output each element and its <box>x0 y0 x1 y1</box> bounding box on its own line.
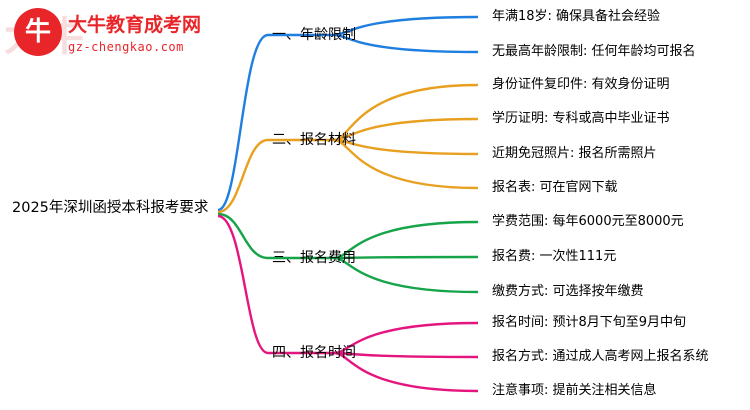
leaf-label-3-2: 报名费: 一次性111元 <box>492 250 616 263</box>
leaf-label-4-2: 报名方式: 通过成人高考网上报名系统 <box>492 350 709 363</box>
leaf-label-4-1: 报名时间: 预计8月下旬至9月中旬 <box>492 316 686 329</box>
leaf-label-2-1: 身份证件复印件: 有效身份证明 <box>492 78 670 91</box>
leaf-label-1-2: 无最高年龄限制: 任何年龄均可报名 <box>492 45 696 58</box>
leaf-label-2-2: 学历证明: 专科或高中毕业证书 <box>492 112 670 125</box>
leaf-label-2-4: 报名表: 可在官网下载 <box>492 181 618 194</box>
branch-label-4: 四、报名时间 <box>272 346 356 360</box>
mindmap-root-label: 2025年深圳函授本科报考要求 <box>12 201 208 216</box>
leaf-label-4-3: 注意事项: 提前关注相关信息 <box>492 384 657 397</box>
leaf-label-2-3: 近期免冠照片: 报名所需照片 <box>492 147 657 160</box>
branch-label-3: 三、报名费用 <box>272 251 356 265</box>
branch-label-1: 一、年龄限制 <box>272 28 356 42</box>
leaf-label-3-3: 缴费方式: 可选择按年缴费 <box>492 285 644 298</box>
leaf-label-3-1: 学费范围: 每年6000元至8000元 <box>492 215 684 228</box>
branch-label-2: 二、报名材料 <box>272 133 356 147</box>
leaf-label-1-1: 年满18岁: 确保具备社会经验 <box>492 10 660 23</box>
